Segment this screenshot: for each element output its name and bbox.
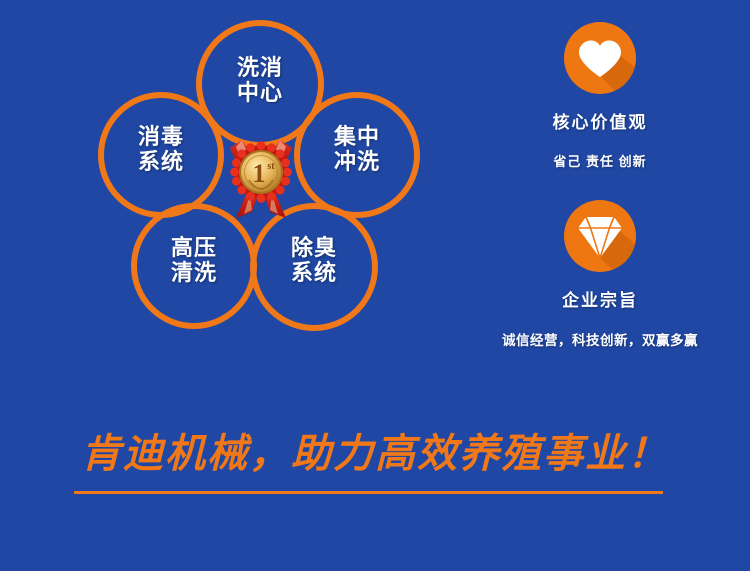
poster-canvas: 洗消 中心 消毒 系统 集中 冲洗 高压 清洗 除臭 系统 bbox=[0, 0, 750, 571]
company-purpose-block: 企业宗旨 诚信经营，科技创新，双赢多赢 bbox=[450, 200, 750, 349]
diamond-icon bbox=[564, 200, 636, 272]
svg-text:1: 1 bbox=[253, 159, 266, 188]
company-purpose-subtitle: 诚信经营，科技创新，双赢多赢 bbox=[450, 329, 750, 349]
core-values-title: 核心价值观 bbox=[450, 108, 750, 133]
circle-ring-right bbox=[294, 92, 420, 218]
core-values-subtitle: 省己 责任 创新 bbox=[450, 151, 750, 170]
first-place-medal-icon: 1 st bbox=[222, 124, 300, 224]
slogan-underline bbox=[74, 491, 663, 494]
company-purpose-title: 企业宗旨 bbox=[450, 286, 750, 311]
svg-text:st: st bbox=[267, 161, 275, 172]
heart-icon bbox=[564, 22, 636, 94]
five-circle-diagram: 洗消 中心 消毒 系统 集中 冲洗 高压 清洗 除臭 系统 bbox=[0, 0, 460, 360]
circle-ring-left bbox=[98, 92, 224, 218]
slogan-container: 肯迪机械，助力高效养殖事业！ bbox=[0, 432, 750, 476]
slogan-text: 肯迪机械，助力高效养殖事业！ bbox=[81, 432, 669, 476]
core-values-block: 核心价值观 省己 责任 创新 bbox=[450, 22, 750, 170]
